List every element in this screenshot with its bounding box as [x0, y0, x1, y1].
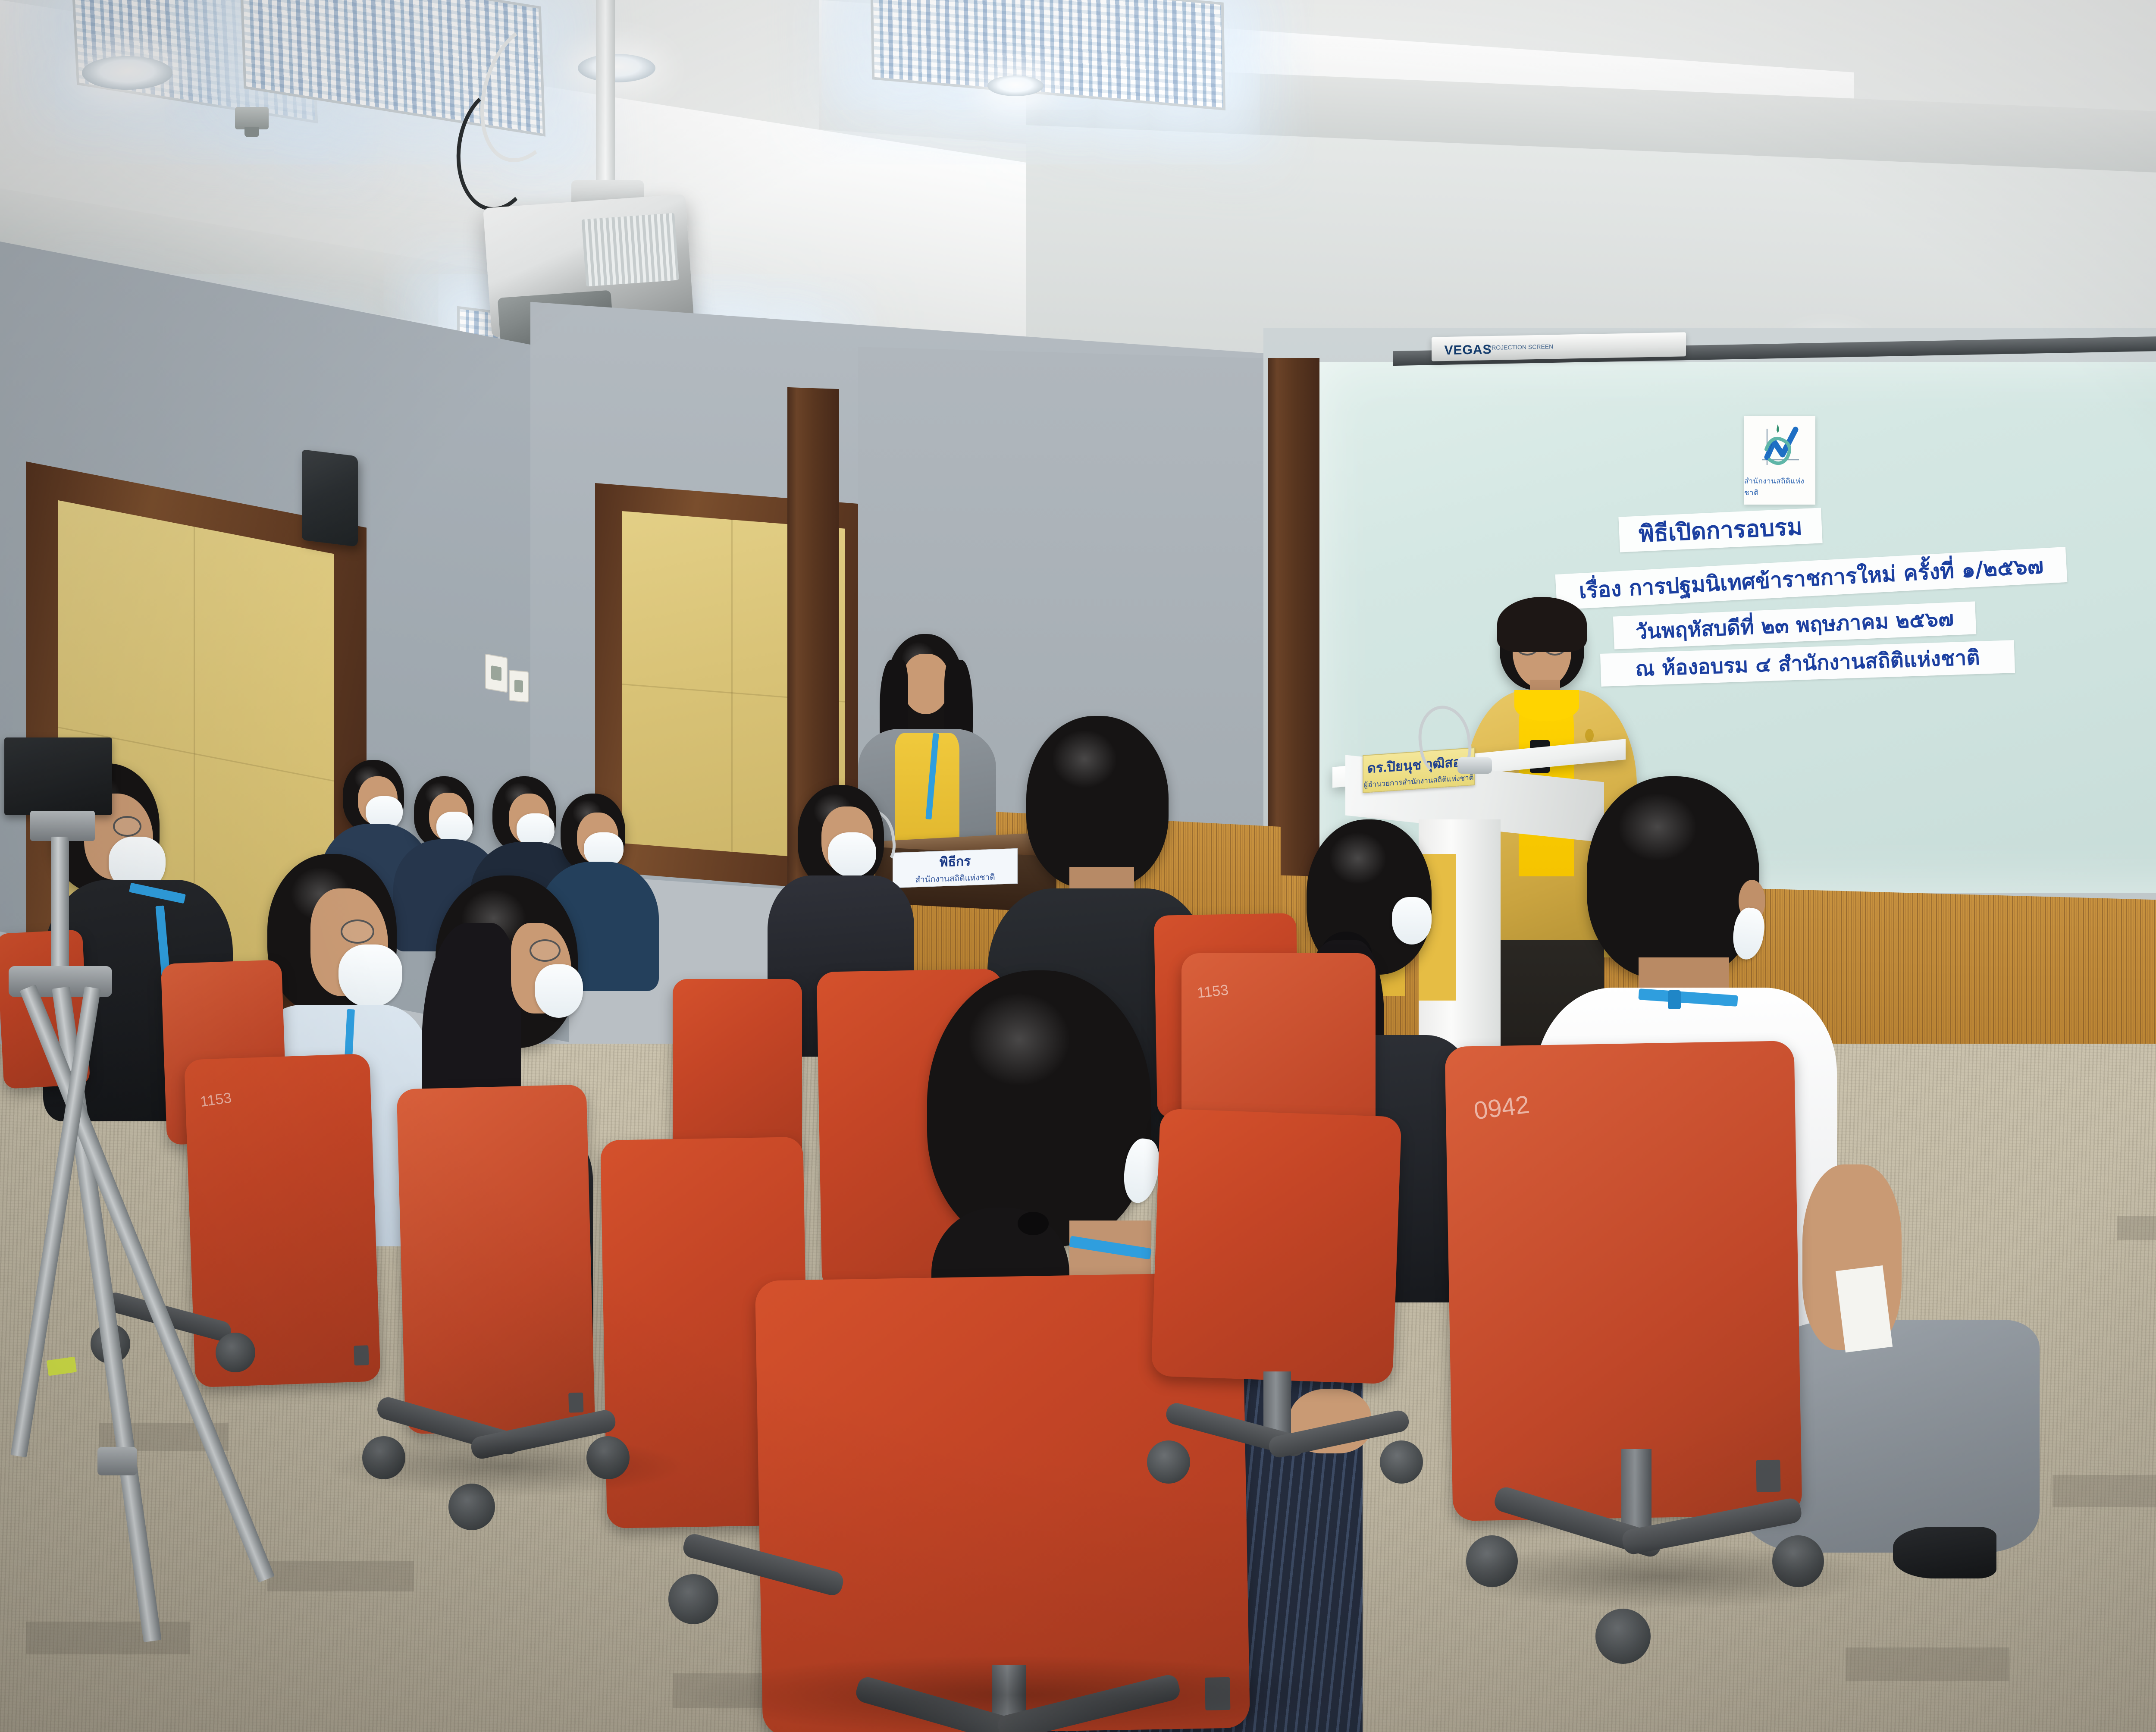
ceiling-downlight [987, 75, 1044, 96]
attendee-face-mask [828, 832, 876, 877]
chair-brand-tag [354, 1345, 369, 1365]
attendee-head [1026, 716, 1169, 888]
attendee-hair-tie [1018, 1212, 1049, 1235]
video-camera [4, 737, 112, 815]
carpet-pattern-block [267, 1561, 414, 1591]
floor-shadow [328, 1436, 681, 1497]
chair-inventory-number: 1153 [199, 1089, 233, 1111]
wall-speaker-left [302, 449, 358, 547]
chair[interactable] [673, 979, 802, 1164]
wall-light-switch[interactable] [485, 653, 508, 693]
attendee-shoe [1893, 1527, 1996, 1578]
projection-screen-housing: VEGAS PROJECTION SCREEN [1432, 332, 1686, 361]
attendee-glasses-icon [530, 939, 561, 962]
fire-sprinkler-icon [235, 107, 269, 129]
chair-brand-tag [568, 1393, 583, 1413]
nso-logo-icon [1754, 423, 1806, 474]
floor-shadow [1445, 1544, 1876, 1609]
chair-caster [1147, 1440, 1190, 1484]
chair-caster [1595, 1609, 1651, 1664]
screen-brand-label: VEGAS [1445, 342, 1492, 358]
attendee-face-mask [535, 964, 583, 1018]
nso-logo-caption: สำนักงานสถิติแห่งชาติ [1744, 475, 1815, 499]
attendee-glasses-icon [113, 816, 141, 837]
tripod-foot [97, 1447, 137, 1475]
chair-caster [216, 1333, 255, 1372]
chair-caster [1380, 1440, 1423, 1484]
screen-brand-sub: PROJECTION SCREEN [1488, 343, 1553, 351]
carpet-pattern-block [2053, 1475, 2156, 1507]
chair[interactable] [397, 1084, 595, 1434]
speaker-hair [1497, 597, 1587, 652]
seminar-room-photo: VEGAS PROJECTION SCREEN สำนักงานสถิติแห่… [0, 0, 2156, 1732]
carpet-pattern-block [1846, 1647, 2009, 1681]
nso-logo-card: สำนักงานสถิติแห่งชาติ [1744, 416, 1815, 505]
podium-microphone-base [1457, 757, 1492, 774]
attendee-head [927, 970, 1151, 1246]
carpet-pattern-block [2117, 1216, 2156, 1240]
attendee-glasses-icon [341, 919, 374, 944]
mc-face [902, 654, 950, 714]
wall-outlet-plate[interactable] [509, 670, 529, 703]
attendee-head [1587, 776, 1759, 979]
ceiling-downlight [82, 56, 172, 90]
mc-nameplate-title: สำนักงานสถิติแห่งชาติ [915, 870, 995, 886]
attendee-face-mask [1392, 897, 1432, 944]
attendee-lanyard-clip [1668, 990, 1681, 1009]
attendee-face-mask [338, 944, 402, 1007]
attendee-paper [1836, 1265, 1893, 1352]
chair[interactable] [1151, 1108, 1401, 1384]
speaker-lapel-pin [1585, 729, 1594, 742]
floor-shadow [690, 1656, 1337, 1732]
carpet-pattern-block [26, 1622, 190, 1654]
tripod-center-column [51, 837, 69, 979]
chair-caster [668, 1574, 718, 1624]
projector-mount-rod [596, 0, 615, 190]
ceiling-downlight [578, 54, 655, 82]
chair-brand-tag [1756, 1460, 1781, 1492]
speaker-collar [1514, 690, 1579, 721]
chair-inventory-number: 0942 [1472, 1090, 1531, 1125]
mc-lectern-nameplate: พิธีกร สำนักงานสถิติแห่งชาติ [893, 848, 1018, 888]
mc-nameplate-name: พิธีกร [940, 851, 971, 872]
chair-inventory-number: 1153 [1196, 982, 1229, 1001]
